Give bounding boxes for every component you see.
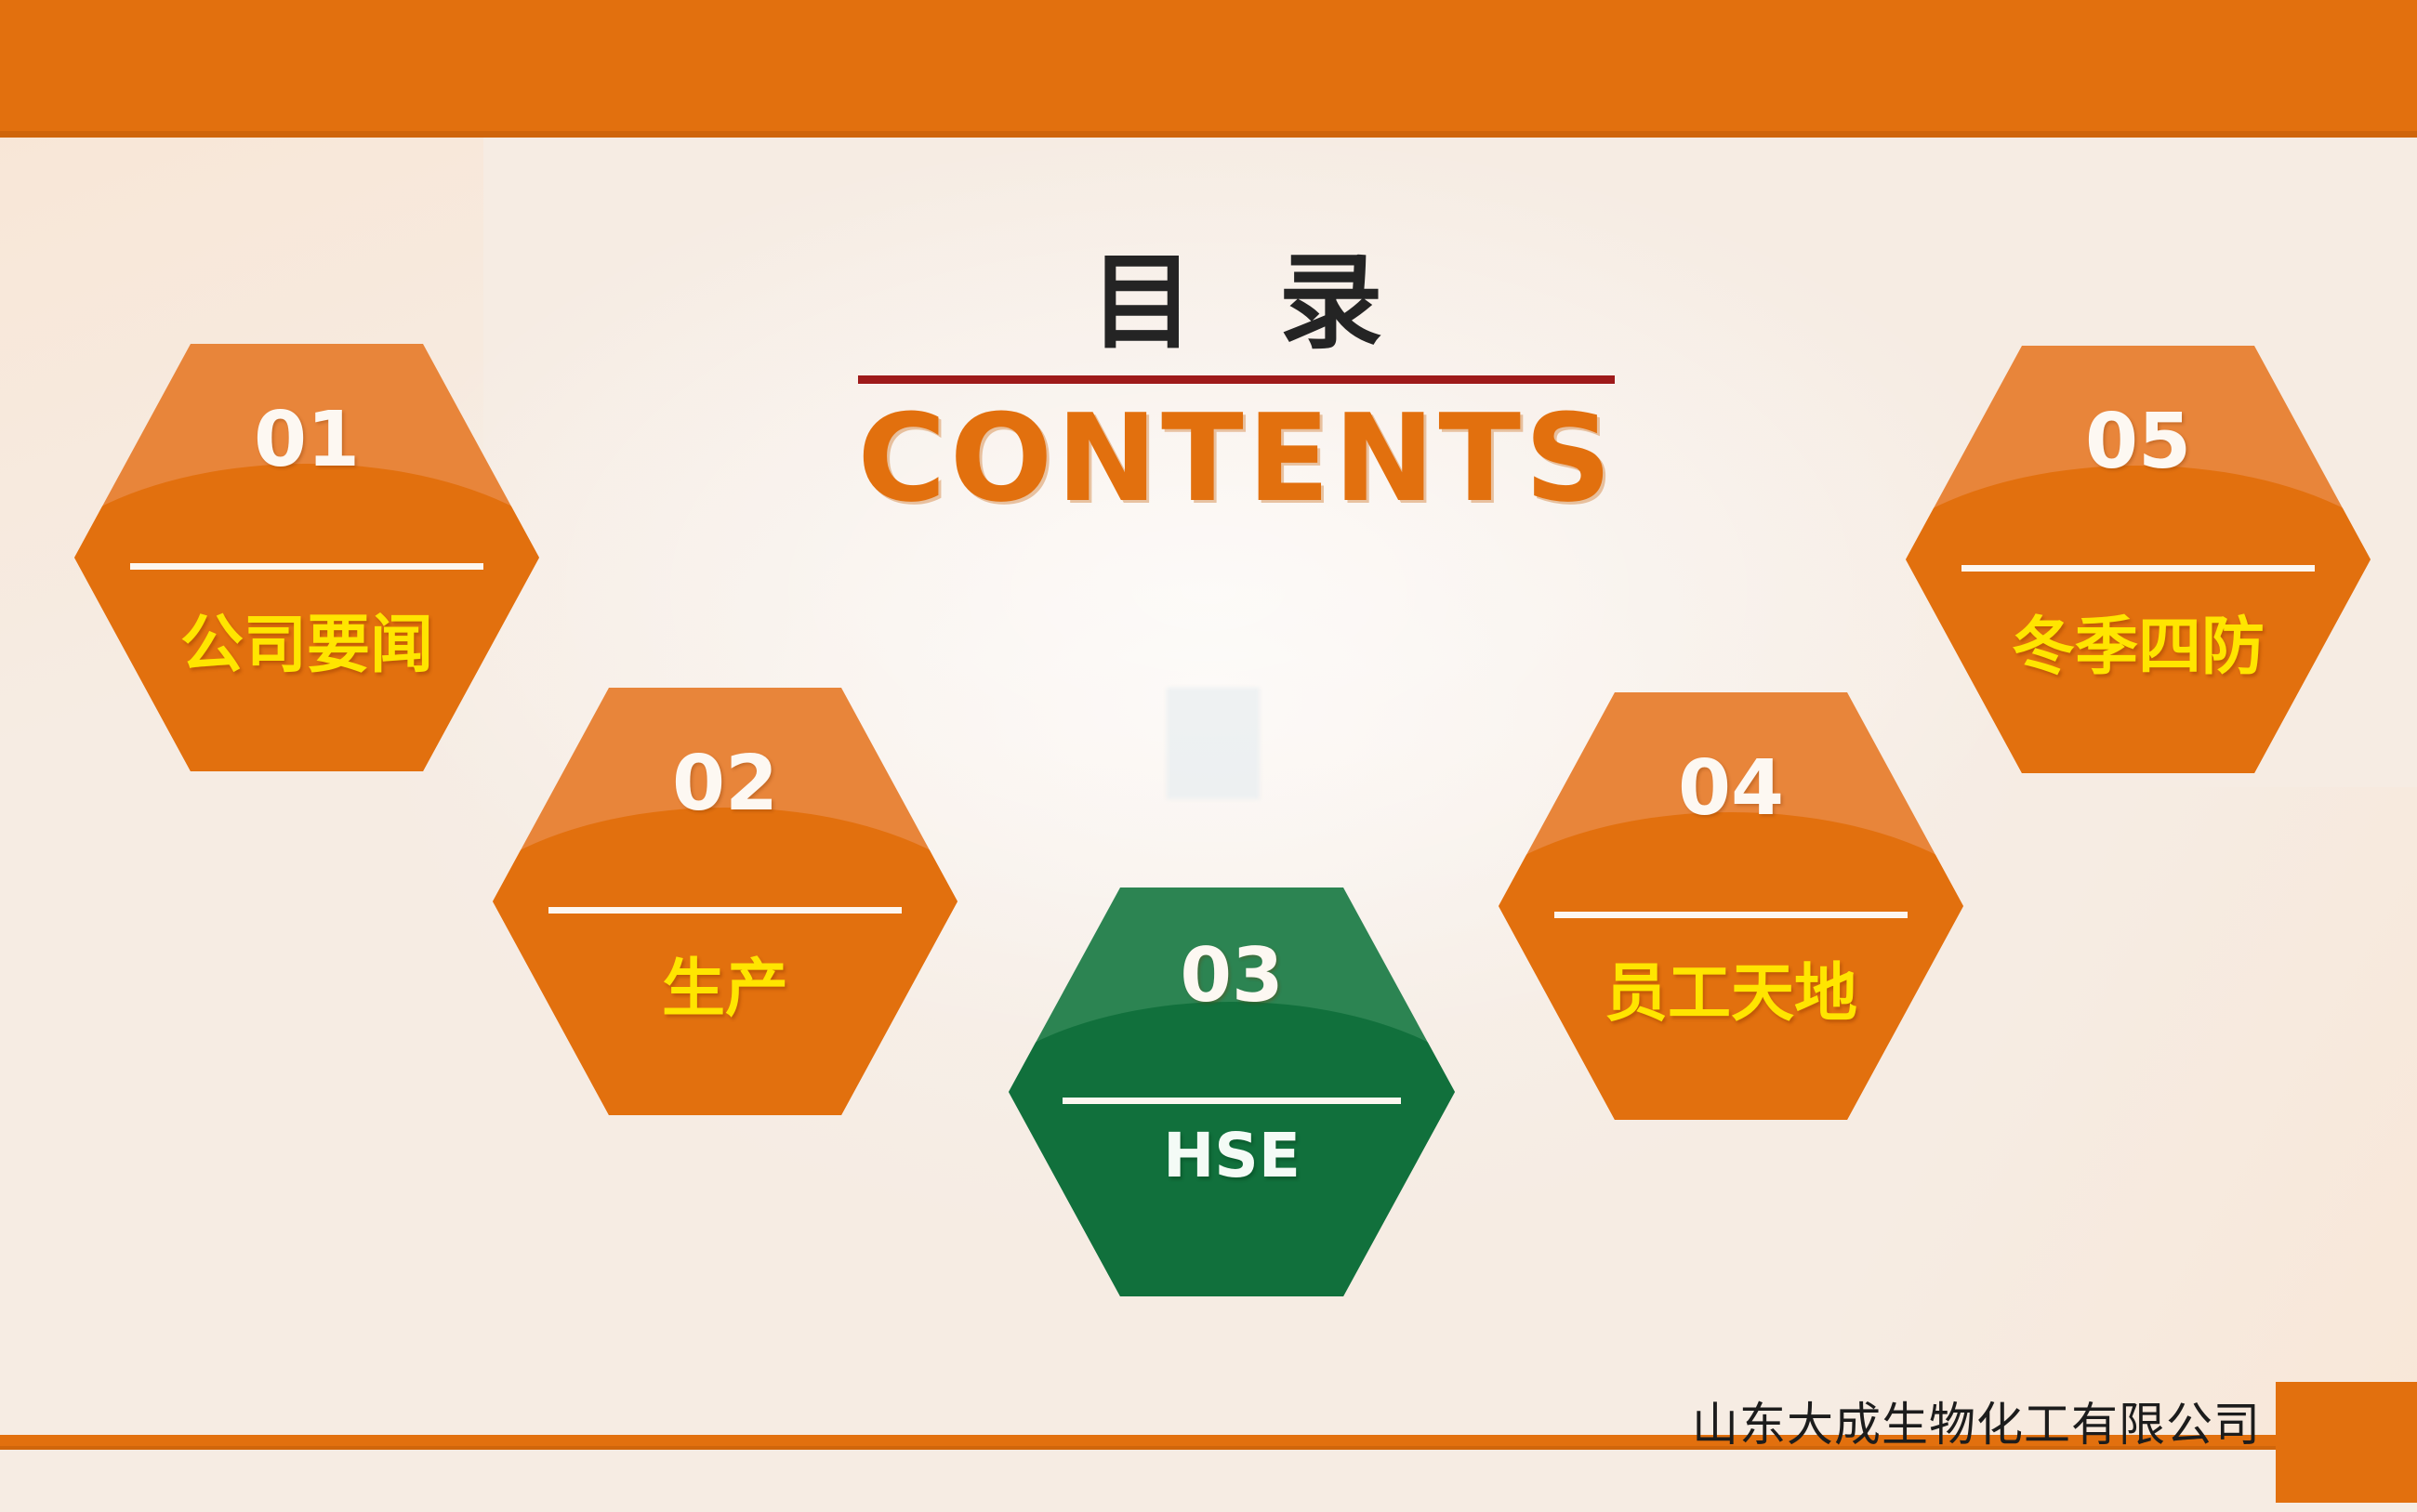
footer-orange-square	[2276, 1382, 2417, 1503]
hex-divider-line	[1063, 1098, 1402, 1104]
slide-canvas: 目 录 CONTENTS 01 公司要闻 02 生产 03 HSE 04 员工	[0, 0, 2417, 1512]
top-band-shadow	[0, 131, 2417, 138]
hex-divider-line	[1554, 912, 1908, 918]
contents-label-01: 公司要闻	[74, 593, 539, 685]
contents-label-04: 员工天地	[1499, 941, 1963, 1033]
background-light-patch	[1167, 688, 1260, 799]
top-orange-band	[0, 0, 2417, 138]
contents-label-02: 生产	[493, 937, 958, 1029]
contents-label-03: HSE	[1009, 1120, 1455, 1191]
title-divider-rule	[858, 375, 1615, 384]
contents-label-05: 冬季四防	[1906, 595, 2371, 687]
hex-divider-line	[1961, 565, 2315, 572]
page-title-english: CONTENTS	[837, 395, 1636, 523]
hex-divider-line	[548, 907, 902, 914]
footer-company-name: 山东大成生物化工有限公司	[1692, 1387, 2261, 1454]
title-block: 目 录 CONTENTS	[837, 251, 1636, 523]
hex-divider-line	[130, 563, 483, 570]
page-title-chinese: 目 录	[837, 251, 1636, 355]
